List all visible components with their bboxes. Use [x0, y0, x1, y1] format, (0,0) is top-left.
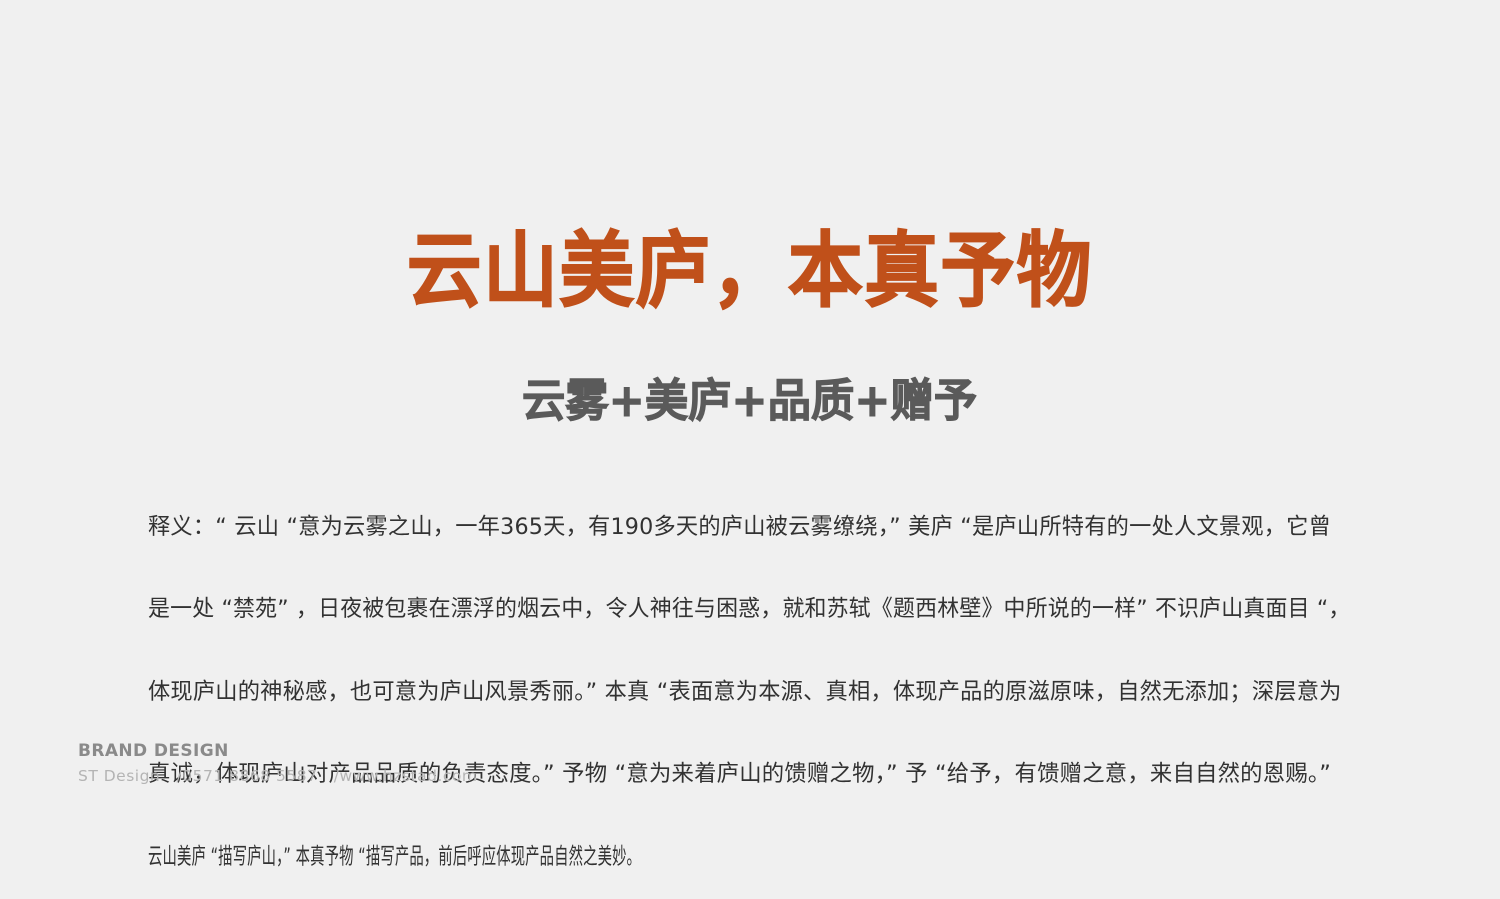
body-line: 是一处 “禁苑” ，日夜被包裹在漂浮的烟云中，令人神往与困惑，就和苏轼《题西林壁…	[148, 591, 1351, 629]
presentation-slide: 云山美庐，本真予物 云雾+美庐+品质+赠予 释义：“ 云山 “意为云雾之山，一年…	[0, 0, 1500, 844]
footer-contact-label: ST Design /0571 8868 5587 /www.hzstad.co…	[78, 764, 778, 788]
subtitle-container: 云雾+美庐+品质+赠予	[0, 338, 1500, 464]
body-line: 云山美庐 “描写庐山，” 本真予物 “描写产品，前后呼应体现产品自然之美妙。	[148, 839, 641, 877]
page-title: 云山美庐，本真予物	[407, 227, 1093, 317]
body-line: 体现庐山的神秘感，也可意为庐山风景秀丽。” 本真 “表面意为本源、真相，体现产品…	[148, 674, 1342, 712]
page-subtitle: 云雾+美庐+品质+赠予	[522, 375, 977, 427]
footer: BRAND DESIGN ST Design /0571 8868 5587 /…	[78, 740, 778, 788]
body-line: 释义：“ 云山 “意为云雾之山，一年365天，有190多天的庐山被云雾缭绕，” …	[148, 509, 1331, 547]
footer-brand-label: BRAND DESIGN	[78, 740, 778, 762]
body-text-block: 释义：“ 云山 “意为云雾之山，一年365天，有190多天的庐山被云雾缭绕，” …	[148, 486, 1358, 899]
